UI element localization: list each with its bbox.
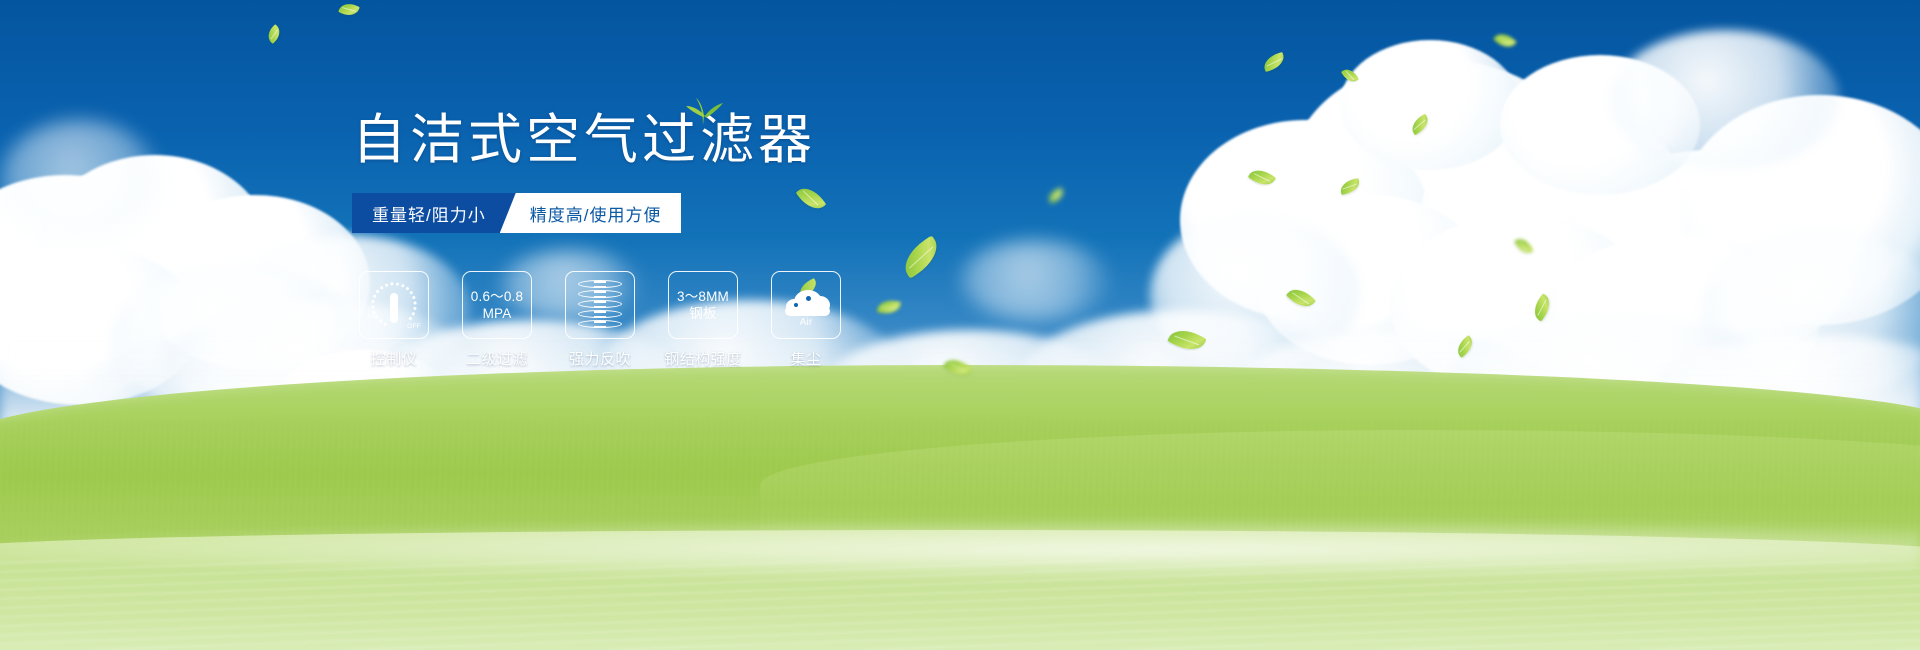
pressure-range-value: 0.6～0.8	[471, 288, 523, 305]
cloud-puff	[0, 120, 160, 240]
steel-plate-label: 钢板	[689, 305, 716, 322]
cloud-puff	[1610, 30, 1840, 170]
feature-label: 二级过滤	[466, 348, 528, 369]
product-hero-banner: 自洁式空气过滤器 重量轻/阻力小 精度高/使用方便	[0, 0, 1920, 650]
feature-item-two-stage-filter[interactable]: 0.6～0.8 MPA 二级过滤	[461, 271, 533, 369]
cloud-puff	[1340, 40, 1520, 170]
pressure-unit-value: MPA	[483, 305, 512, 322]
cloud-puff	[960, 240, 1110, 320]
feature-label: 集尘	[790, 348, 821, 369]
feature-item-dust-collection[interactable]: Air 集尘	[770, 271, 842, 369]
title-block: 自洁式空气过滤器	[352, 110, 1052, 170]
air-text-label: Air	[780, 314, 832, 331]
feature-item-steel-strength[interactable]: 3～8MM 钢板 钢结构强度	[667, 271, 739, 369]
tagline-badge-2: 精度高/使用方便	[500, 193, 682, 233]
feature-icon-box	[565, 271, 635, 339]
feature-label: 强力反吹	[569, 348, 631, 369]
tagline-badges: 重量轻/阻力小 精度高/使用方便	[352, 193, 681, 233]
feature-icon-row: NO OFF 控制仪 0.6～0.8 MPA 二级过滤	[358, 271, 842, 369]
gauge-off-label: OFF	[407, 318, 421, 335]
feature-icon-box: Air	[771, 271, 841, 339]
feature-icon-box: 0.6～0.8 MPA	[462, 271, 532, 339]
feature-item-controller[interactable]: NO OFF 控制仪	[358, 271, 430, 369]
feature-item-reverse-blow[interactable]: 强力反吹	[564, 271, 636, 369]
feature-icon-box: NO OFF	[359, 271, 429, 339]
gauge-needle-icon	[390, 293, 398, 323]
gauge-dial-icon: NO OFF	[367, 280, 421, 330]
leaf-sprout-icon	[684, 92, 724, 126]
filter-coil-icon	[578, 279, 622, 331]
feature-label: 控制仪	[371, 348, 418, 369]
tagline-badge-1: 重量轻/阻力小	[352, 193, 516, 233]
feature-label: 钢结构强度	[664, 348, 742, 369]
feature-icon-box: 3～8MM 钢板	[668, 271, 738, 339]
air-cloud-icon: Air	[780, 284, 832, 326]
steel-thickness-value: 3～8MM	[677, 288, 729, 305]
grass-streaks	[0, 560, 1920, 650]
gauge-no-label: NO	[368, 308, 378, 325]
